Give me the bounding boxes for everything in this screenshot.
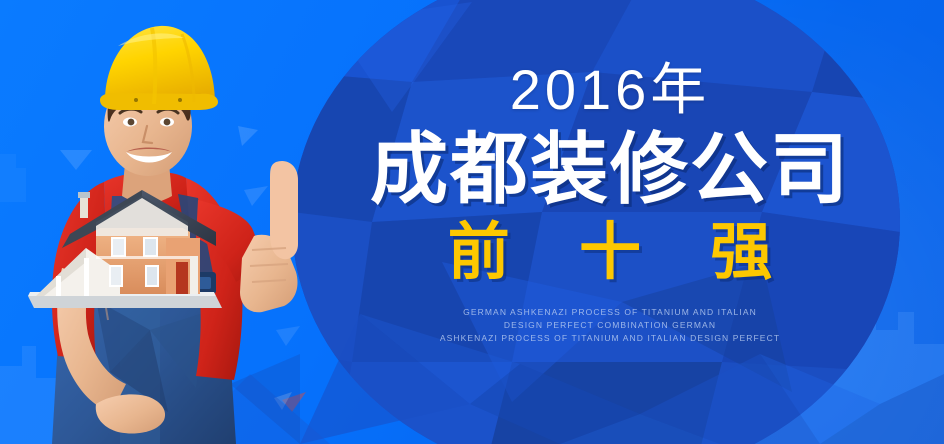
subtitle-top-ten: 前 十 强: [330, 222, 890, 284]
worker-figure: [0, 0, 340, 444]
english-tagline-line-1: GERMAN ASHKENAZI PROCESS OF TITANIUM AND…: [330, 306, 890, 319]
page-title: 成都装修公司: [330, 130, 890, 208]
english-tagline-line-3: ASHKENAZI PROCESS OF TITANIUM AND ITALIA…: [330, 332, 890, 345]
english-tagline-line-2: DESIGN PERFECT COMBINATION GERMAN: [330, 319, 890, 332]
year-label: 2016年: [330, 62, 890, 118]
promotional-banner: 2016年 成都装修公司 前 十 强 GERMAN ASHKENAZI PROC…: [0, 0, 944, 444]
english-tagline: GERMAN ASHKENAZI PROCESS OF TITANIUM AND…: [330, 306, 890, 345]
headline-text-block: 2016年 成都装修公司 前 十 强 GERMAN ASHKENAZI PROC…: [330, 62, 890, 345]
worker-hard-hat: [100, 26, 218, 110]
